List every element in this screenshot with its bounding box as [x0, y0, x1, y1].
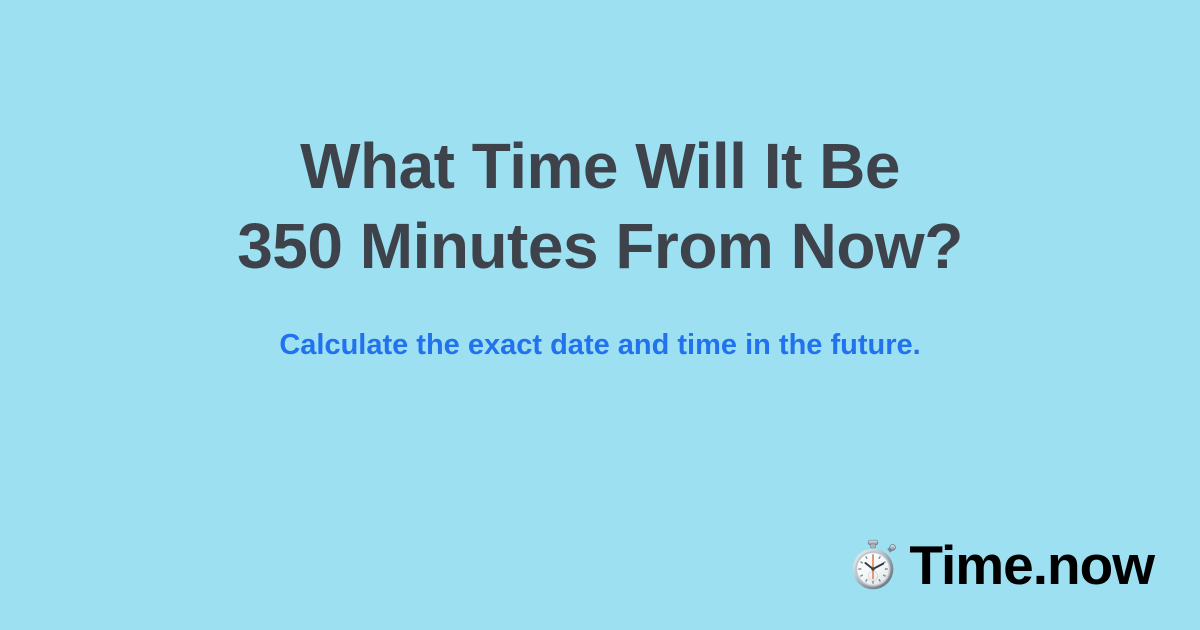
brand-logo[interactable]: Time.now — [849, 536, 1154, 594]
page-subtitle: Calculate the exact date and time in the… — [0, 326, 1200, 364]
og-card: What Time Will It Be 350 Minutes From No… — [0, 0, 1200, 630]
page-title-line-1: What Time Will It Be — [0, 126, 1200, 206]
page-title: What Time Will It Be 350 Minutes From No… — [0, 126, 1200, 286]
page-title-line-2: 350 Minutes From Now? — [0, 206, 1200, 286]
subtitle-block: Calculate the exact date and time in the… — [0, 326, 1200, 364]
headline-block: What Time Will It Be 350 Minutes From No… — [0, 126, 1200, 286]
stopwatch-icon — [849, 539, 897, 591]
brand-name: Time.now — [909, 536, 1154, 594]
